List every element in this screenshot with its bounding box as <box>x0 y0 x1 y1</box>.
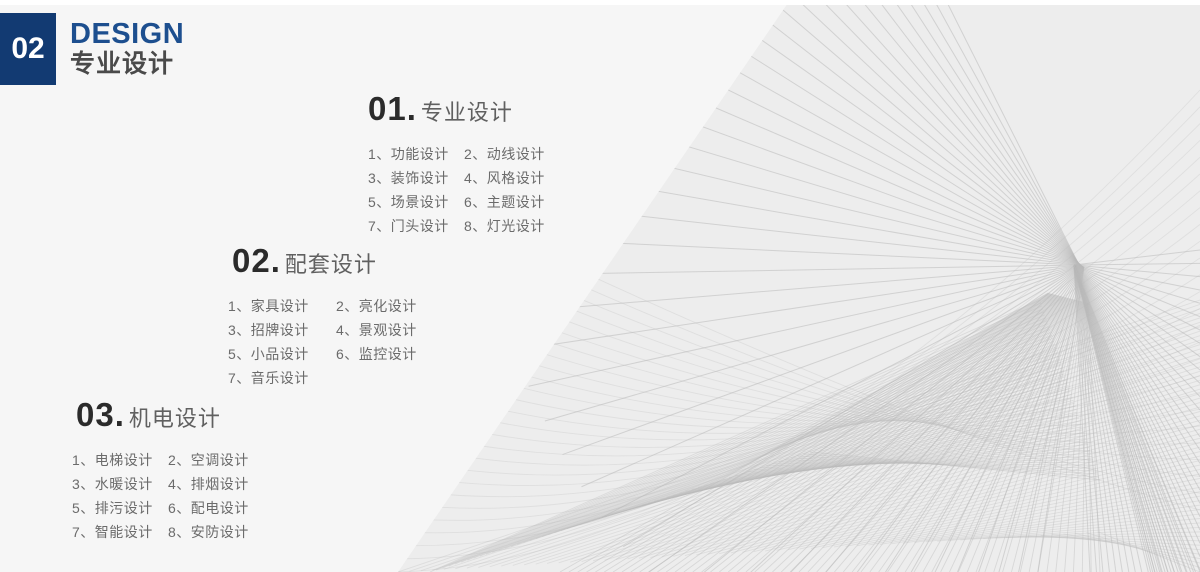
top-white-strip <box>0 0 1200 5</box>
list-item: 7、音乐设计 <box>228 366 336 390</box>
list-item: 2、亮化设计 <box>336 294 417 318</box>
list-item: 3、装饰设计 <box>368 166 464 190</box>
list-item: 6、监控设计 <box>336 342 417 366</box>
list-row: 5、场景设计 6、主题设计 <box>368 190 545 214</box>
list-item: 3、水暖设计 <box>72 472 168 496</box>
section-02-title: 02. 配套设计 <box>232 242 417 280</box>
section-03-list: 1、电梯设计 2、空调设计 3、水暖设计 4、排烟设计 5、排污设计 6、配电设… <box>72 448 249 544</box>
list-item: 4、排烟设计 <box>168 472 249 496</box>
list-item: 2、动线设计 <box>464 142 545 166</box>
section-02-list: 1、家具设计 2、亮化设计 3、招牌设计 4、景观设计 5、小品设计 6、监控设… <box>228 294 417 390</box>
section-01-title: 01. 专业设计 <box>368 90 545 128</box>
section-03-name: 机电设计 <box>129 401 221 433</box>
list-row: 5、小品设计 6、监控设计 <box>228 342 417 366</box>
list-item: 7、智能设计 <box>72 520 168 544</box>
list-row: 3、水暖设计 4、排烟设计 <box>72 472 249 496</box>
list-row: 7、门头设计 8、灯光设计 <box>368 214 545 238</box>
list-item: 1、功能设计 <box>368 142 464 166</box>
list-row: 3、装饰设计 4、风格设计 <box>368 166 545 190</box>
section-02-name: 配套设计 <box>285 247 377 279</box>
content-section-03: 03. 机电设计 1、电梯设计 2、空调设计 3、水暖设计 4、排烟设计 5、排… <box>76 396 249 544</box>
section-01-name: 专业设计 <box>421 95 513 127</box>
list-row: 3、招牌设计 4、景观设计 <box>228 318 417 342</box>
list-row: 1、电梯设计 2、空调设计 <box>72 448 249 472</box>
section-01-number: 01. <box>368 90 417 128</box>
section-badge-number: 02 <box>0 13 56 85</box>
list-item: 6、配电设计 <box>168 496 249 520</box>
list-item: 1、电梯设计 <box>72 448 168 472</box>
section-02-number: 02. <box>232 242 281 280</box>
list-item: 8、安防设计 <box>168 520 249 544</box>
list-item: 8、灯光设计 <box>464 214 545 238</box>
section-03-number: 03. <box>76 396 125 434</box>
header-titles: DESIGN 专业设计 <box>70 13 184 85</box>
list-item: 7、门头设计 <box>368 214 464 238</box>
list-item: 2、空调设计 <box>168 448 249 472</box>
list-row: 5、排污设计 6、配电设计 <box>72 496 249 520</box>
header: 02 DESIGN 专业设计 <box>0 13 184 85</box>
section-01-list: 1、功能设计 2、动线设计 3、装饰设计 4、风格设计 5、场景设计 6、主题设… <box>368 142 545 238</box>
list-item: 3、招牌设计 <box>228 318 336 342</box>
list-item: 5、排污设计 <box>72 496 168 520</box>
section-03-title: 03. 机电设计 <box>76 396 249 434</box>
list-item: 4、景观设计 <box>336 318 417 342</box>
list-item: 4、风格设计 <box>464 166 545 190</box>
list-item: 5、小品设计 <box>228 342 336 366</box>
header-title-cn: 专业设计 <box>70 50 184 79</box>
list-row: 7、音乐设计 <box>228 366 417 390</box>
list-item: 5、场景设计 <box>368 190 464 214</box>
slide-canvas: 02 DESIGN 专业设计 01. 专业设计 1、功能设计 2、动线设计 3、… <box>0 0 1200 572</box>
list-row: 7、智能设计 8、安防设计 <box>72 520 249 544</box>
list-row: 1、功能设计 2、动线设计 <box>368 142 545 166</box>
content-section-01: 01. 专业设计 1、功能设计 2、动线设计 3、装饰设计 4、风格设计 5、场… <box>368 90 545 238</box>
list-row: 1、家具设计 2、亮化设计 <box>228 294 417 318</box>
list-item: 1、家具设计 <box>228 294 336 318</box>
content-section-02: 02. 配套设计 1、家具设计 2、亮化设计 3、招牌设计 4、景观设计 5、小… <box>232 242 417 390</box>
list-item: 6、主题设计 <box>464 190 545 214</box>
header-title-en: DESIGN <box>70 19 184 49</box>
